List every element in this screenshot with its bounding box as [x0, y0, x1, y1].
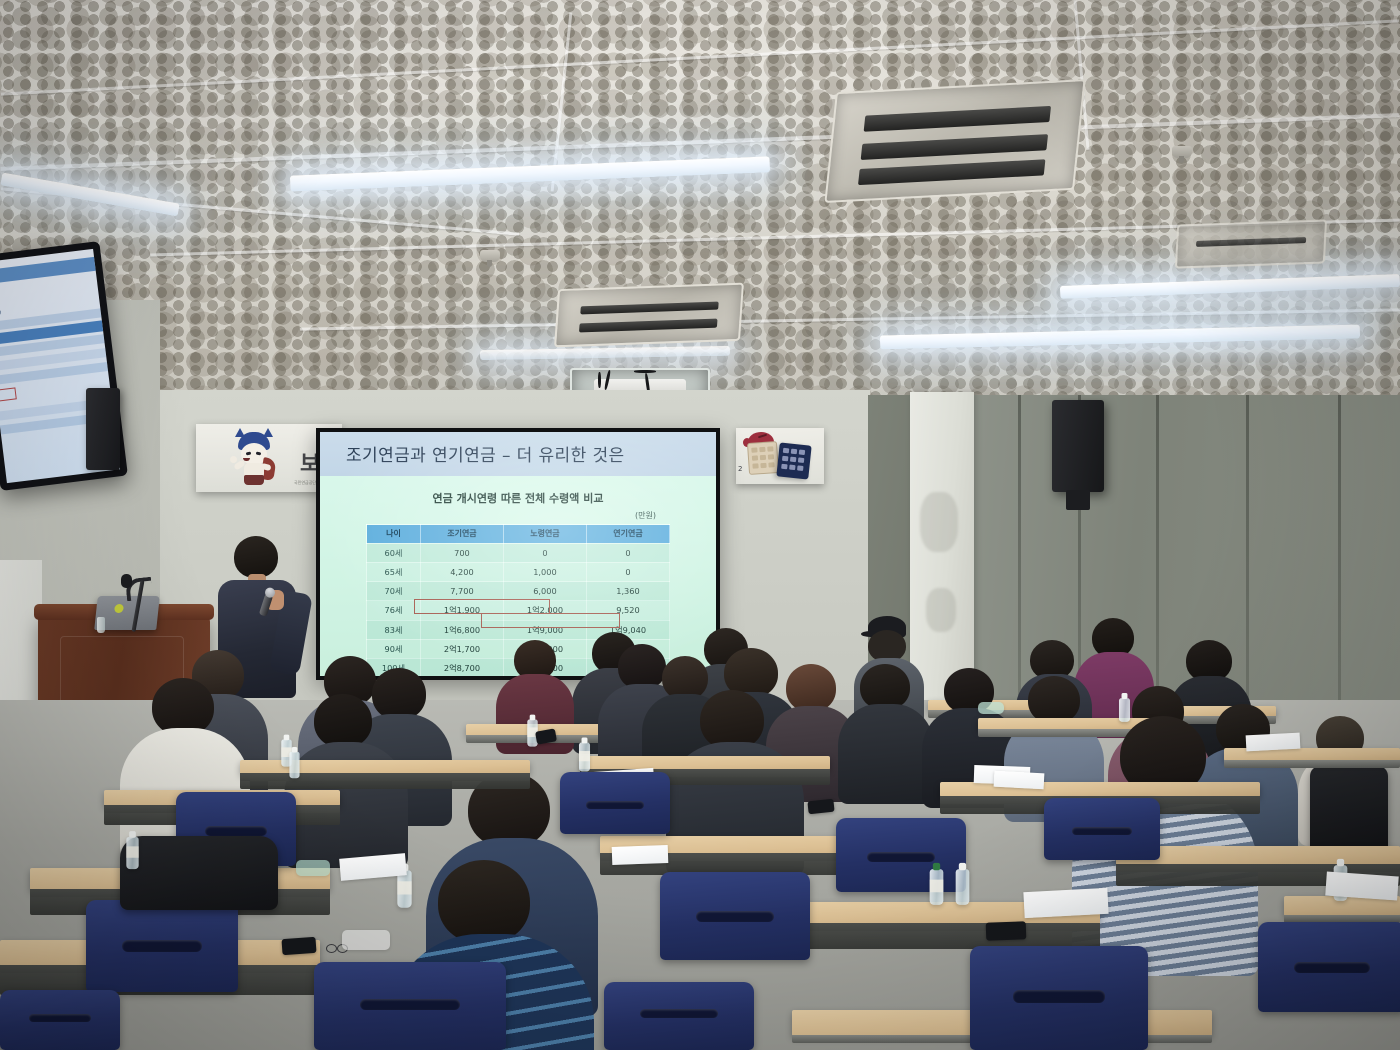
air-vent [824, 79, 1085, 203]
calculator-icon [776, 442, 811, 479]
smartphone[interactable] [281, 937, 316, 955]
table-col-header-0: 나이 [367, 525, 421, 544]
chair[interactable] [1044, 798, 1160, 860]
chair[interactable] [836, 818, 966, 892]
chair[interactable] [970, 946, 1148, 1050]
lecture-room-photo: (만원) 보 국민연금공단 [0, 0, 1400, 1050]
table-cell: 1,360 [586, 582, 669, 601]
table-cell: 90세 [367, 639, 421, 658]
savings-poster: 2 [736, 428, 824, 484]
table-cell: 4,200 [420, 562, 503, 581]
table-cell: 70세 [367, 582, 421, 601]
air-vent [554, 283, 744, 348]
table-cell: 1억9,000 [503, 620, 586, 639]
table-cell: 60세 [367, 543, 421, 562]
desk [940, 782, 1260, 797]
wall-speaker-left [86, 388, 120, 470]
water-bottle [956, 869, 970, 905]
slide: 조기연금과 연기연금 – 더 유리한 것은 연금 개시연령 따른 전체 수령액 … [320, 432, 716, 676]
table-cell: 7,700 [420, 582, 503, 601]
water-bottle [579, 743, 590, 772]
banner-logo-text: 국민연금공단 [294, 480, 316, 486]
chair[interactable] [0, 990, 120, 1050]
table-row: 65세4,2001,0000 [367, 562, 670, 581]
slide-unit-label: (만원) [635, 510, 656, 521]
table-cell: 1억2,000 [503, 601, 586, 620]
desk [580, 756, 830, 770]
table-cell: 2억1,700 [420, 639, 503, 658]
calculator-icon [747, 441, 779, 475]
pencil-pouch [342, 930, 390, 950]
table-row: 60세70000 [367, 543, 670, 562]
wall-speaker-right [1052, 400, 1104, 492]
table-cell: 1억1,900 [420, 601, 503, 620]
smartphone[interactable] [807, 799, 834, 815]
table-cell: 9,520 [586, 601, 669, 620]
sprinkler-head [1172, 146, 1192, 158]
table-cell: 1억6,800 [420, 620, 503, 639]
chair[interactable] [560, 772, 670, 834]
document [612, 845, 669, 865]
poster-number: 2 [738, 465, 742, 473]
projection-screen: 조기연금과 연기연금 – 더 유리한 것은 연금 개시연령 따른 전체 수령액 … [316, 428, 720, 680]
backpack [120, 836, 278, 910]
table-header-row: 나이조기연금노령연금연기연금 [367, 525, 670, 544]
chair[interactable] [314, 962, 506, 1050]
table-col-header-1: 조기연금 [420, 525, 503, 544]
slide-caption: 연금 개시연령 따른 전체 수령액 비교 [320, 490, 716, 506]
mascot-icon [232, 432, 276, 484]
air-vent [1175, 219, 1327, 268]
water-bottle [126, 837, 138, 869]
chair[interactable] [604, 982, 754, 1050]
document [1023, 888, 1108, 918]
table-cell: 700 [420, 543, 503, 562]
document [1325, 872, 1398, 901]
table-cell: 0 [586, 543, 669, 562]
document [994, 771, 1045, 790]
table-row: 70세7,7006,0001,360 [367, 582, 670, 601]
slide-title: 조기연금과 연기연금 – 더 유리한 것은 [346, 441, 625, 466]
table-cell: 0 [503, 543, 586, 562]
water-bottle [289, 752, 299, 779]
table-cell: 1,000 [503, 562, 586, 581]
ceiling [0, 0, 1400, 400]
table-col-header-3: 연기연금 [586, 525, 669, 544]
pencil-pouch [296, 860, 330, 876]
table-cell: 2억8,700 [420, 658, 503, 676]
pencil-pouch [978, 702, 1004, 714]
water-bottle [397, 870, 411, 907]
water-bottle [1119, 698, 1130, 722]
table-cell: 65세 [367, 562, 421, 581]
document [1246, 733, 1301, 752]
right-wall-acoustic-panels [960, 395, 1400, 725]
table-cell: 0 [586, 562, 669, 581]
chair[interactable] [1258, 922, 1400, 1012]
table-col-header-2: 노령연금 [503, 525, 586, 544]
table-row: 76세1억1,9001억2,0009,520 [367, 601, 670, 620]
chair[interactable] [86, 900, 238, 992]
water-bottle [930, 869, 944, 905]
smartphone[interactable] [986, 921, 1027, 940]
sprinkler-head [480, 250, 500, 262]
backpack [1310, 766, 1388, 852]
table-cell: 83세 [367, 620, 421, 639]
water-bottle [97, 617, 105, 633]
table-cell: 6,000 [503, 582, 586, 601]
chair[interactable] [660, 872, 810, 960]
table-cell: 76세 [367, 601, 421, 620]
